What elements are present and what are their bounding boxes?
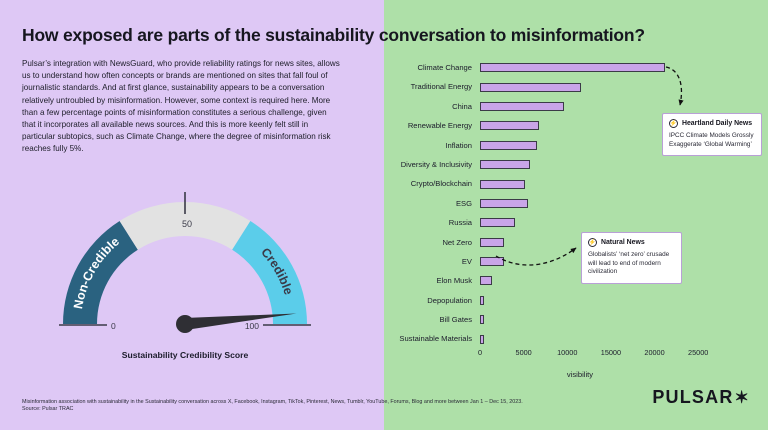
- intro-paragraph: Pulsar’s integration with NewsGuard, who…: [22, 58, 342, 156]
- bar-chart-x-axis: 0500010000150002000025000: [480, 348, 730, 362]
- x-axis-tick-label: 0: [478, 348, 482, 357]
- brand-name: PULSAR: [652, 387, 733, 408]
- bar-row[interactable]: [480, 174, 720, 193]
- footer-note: Misinformation association with sustaina…: [22, 399, 622, 414]
- x-axis-title: visibility: [480, 370, 680, 379]
- bar-category-label: ESG: [384, 194, 478, 213]
- gauge-band-0: [63, 221, 138, 324]
- gauge-hub: [176, 315, 194, 333]
- bar[interactable]: [480, 199, 528, 208]
- callout-source: Heartland Daily News: [682, 120, 752, 127]
- bar-row[interactable]: [480, 194, 720, 213]
- bar[interactable]: [480, 335, 484, 344]
- callout-header: ⚡ Natural News: [588, 238, 674, 247]
- gauge-svg: Non-CredibleCredible500100: [20, 172, 350, 352]
- pulsar-logo: PULSAR ✶: [652, 387, 750, 408]
- gauge-label-min: 0: [111, 321, 116, 331]
- asterisk-icon: ✶: [735, 388, 750, 408]
- callout-header: ⚡ Heartland Daily News: [669, 119, 754, 128]
- bar-category-label: Traditional Energy: [384, 77, 478, 96]
- bar-row[interactable]: [480, 329, 720, 348]
- lightning-icon: ⚡: [588, 238, 597, 247]
- footer-line-1: Misinformation association with sustaina…: [22, 399, 622, 407]
- x-axis-tick-label: 5000: [516, 348, 532, 357]
- credibility-gauge: Non-CredibleCredible500100 Sustainabilit…: [20, 172, 350, 372]
- bar-row[interactable]: [480, 213, 720, 232]
- bar-category-label: Sustainable Materials: [384, 329, 478, 348]
- bar-category-label: China: [384, 97, 478, 116]
- gauge-label-max: 100: [245, 321, 259, 331]
- callout-headline: Globalists’ ‘net zero’ crusade will lead…: [588, 251, 674, 277]
- bar[interactable]: [480, 160, 530, 169]
- callout-headline: IPCC Climate Models Grossly Exaggerate ‘…: [669, 132, 754, 149]
- bar-row[interactable]: [480, 58, 720, 77]
- bar-chart-plot-area: [480, 58, 720, 349]
- bar[interactable]: [480, 296, 484, 305]
- gauge-label-mid: 50: [182, 219, 192, 229]
- x-axis-tick-label: 20000: [644, 348, 664, 357]
- bar[interactable]: [480, 63, 665, 72]
- bar-category-label: Russia: [384, 213, 478, 232]
- bar-category-label: Elon Musk: [384, 271, 478, 290]
- x-axis-tick-label: 15000: [601, 348, 621, 357]
- callout-heartland-daily-news[interactable]: ⚡ Heartland Daily News IPCC Climate Mode…: [662, 113, 762, 156]
- bar-category-label: Diversity & Inclusivity: [384, 155, 478, 174]
- gauge-band-2: [232, 221, 307, 324]
- bar-chart-category-labels: Climate ChangeTraditional EnergyChinaRen…: [384, 58, 478, 349]
- bar[interactable]: [480, 315, 484, 324]
- bar-row[interactable]: [480, 310, 720, 329]
- bar-row[interactable]: [480, 155, 720, 174]
- bar-category-label: Depopulation: [384, 291, 478, 310]
- lightning-icon: ⚡: [669, 119, 678, 128]
- bar[interactable]: [480, 276, 492, 285]
- bar[interactable]: [480, 83, 581, 92]
- bar[interactable]: [480, 102, 564, 111]
- slide-root: How exposed are parts of the sustainabil…: [0, 0, 768, 430]
- bar-row[interactable]: [480, 77, 720, 96]
- bar[interactable]: [480, 238, 504, 247]
- callout-source: Natural News: [601, 239, 645, 246]
- bar[interactable]: [480, 257, 504, 266]
- footer-line-2: Source: Pulsar TRAC: [22, 406, 622, 414]
- bar-category-label: EV: [384, 252, 478, 271]
- bar[interactable]: [480, 121, 539, 130]
- bar-category-label: Climate Change: [384, 58, 478, 77]
- bar[interactable]: [480, 180, 525, 189]
- callout-natural-news[interactable]: ⚡ Natural News Globalists’ ‘net zero’ cr…: [581, 232, 682, 284]
- bar-category-label: Bill Gates: [384, 310, 478, 329]
- bar-category-label: Renewable Energy: [384, 116, 478, 135]
- bar-category-label: Crypto/Blockchain: [384, 174, 478, 193]
- bar-category-label: Inflation: [384, 136, 478, 155]
- bar-category-label: Net Zero: [384, 233, 478, 252]
- visibility-bar-chart: Climate ChangeTraditional EnergyChinaRen…: [384, 0, 768, 430]
- x-axis-tick-label: 25000: [688, 348, 708, 357]
- gauge-caption: Sustainability Credibility Score: [20, 350, 350, 360]
- bar-row[interactable]: [480, 291, 720, 310]
- x-axis-tick-label: 10000: [557, 348, 577, 357]
- bar[interactable]: [480, 141, 537, 150]
- bar[interactable]: [480, 218, 515, 227]
